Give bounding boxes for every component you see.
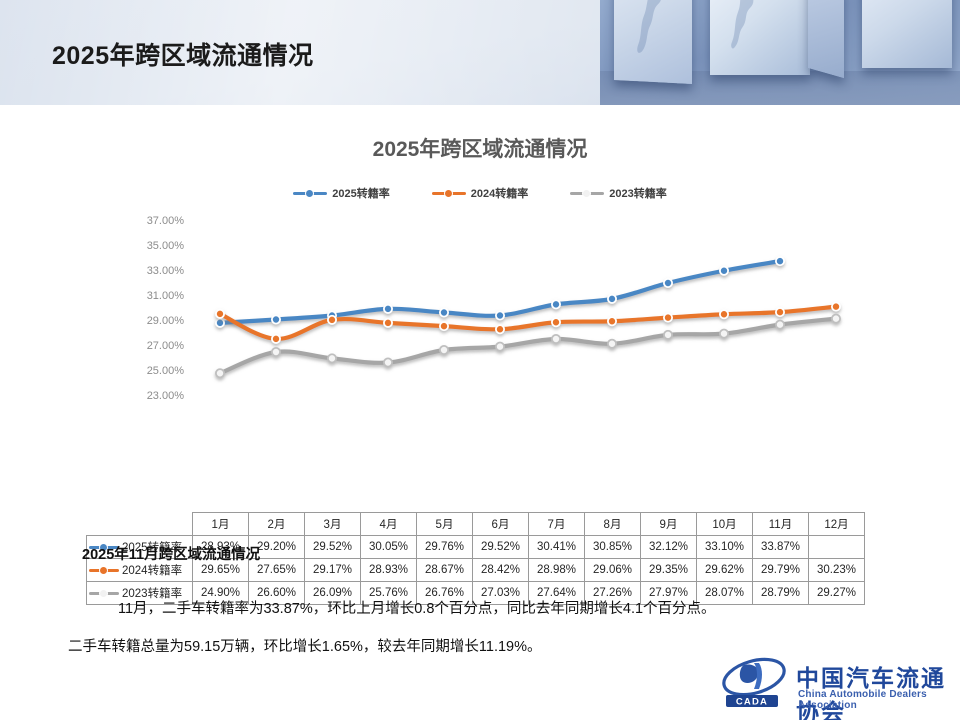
- world-map-icon: [720, 0, 778, 66]
- table-column-header: 1月: [193, 513, 249, 536]
- series-point: [720, 330, 728, 338]
- series-point: [216, 310, 224, 318]
- table-cell: 30.41%: [529, 536, 585, 559]
- series-point: [832, 303, 840, 311]
- table-cell: 30.05%: [361, 536, 417, 559]
- table-column-header: 12月: [809, 513, 865, 536]
- table-cell: 29.17%: [305, 559, 361, 582]
- cada-logo-icon: CADA: [718, 657, 790, 709]
- page-title: 2025年跨区域流通情况: [52, 36, 314, 72]
- series-point: [272, 335, 280, 343]
- notes-paragraph-2: 二手车转籍总量为59.15万辆，环比增长1.65%，较去年同期增长11.19%。: [68, 635, 542, 656]
- table-cell: 29.52%: [473, 536, 529, 559]
- series-point: [608, 340, 616, 348]
- world-map-icon: [624, 0, 682, 62]
- series-point: [216, 369, 224, 377]
- table-series-name: 2024转籍率: [122, 562, 182, 578]
- series-point: [440, 308, 448, 316]
- cube-icon-2: [710, 0, 810, 75]
- table-cell: 29.06%: [585, 559, 641, 582]
- series-point: [272, 348, 280, 356]
- table-column-header: 5月: [417, 513, 473, 536]
- series-point: [776, 257, 784, 265]
- slide-root: 2025年跨区域流通情况 2025年跨区域流通情况 2025转籍率 2024转籍…: [0, 0, 960, 720]
- series-point: [664, 314, 672, 322]
- series-point: [440, 322, 448, 330]
- table-cell: 29.52%: [305, 536, 361, 559]
- header-artwork: [600, 0, 960, 105]
- series-point: [608, 295, 616, 303]
- table-cell: 28.98%: [529, 559, 585, 582]
- table-cell: 29.35%: [641, 559, 697, 582]
- table-header-row: 1月2月3月4月5月6月7月8月9月10月11月12月: [87, 513, 865, 536]
- table-cell: 29.79%: [753, 559, 809, 582]
- logo-english-name: China Automobile Dealers Association: [798, 689, 956, 711]
- series-point: [720, 310, 728, 318]
- series-point: [216, 319, 224, 327]
- table-cell: 28.67%: [417, 559, 473, 582]
- series-point: [384, 305, 392, 313]
- cube-icon-1: [614, 0, 692, 84]
- cube-icon-3: [862, 0, 952, 68]
- table-column-header: 8月: [585, 513, 641, 536]
- table-cell: 33.10%: [697, 536, 753, 559]
- svg-text:CADA: CADA: [736, 697, 768, 708]
- table-cell: 29.76%: [417, 536, 473, 559]
- table-column-header: 7月: [529, 513, 585, 536]
- table-cell: 28.42%: [473, 559, 529, 582]
- organization-logo: CADA 中国汽车流通协会 China Automobile Dealers A…: [718, 655, 956, 713]
- series-point: [328, 354, 336, 362]
- table-column-header: 3月: [305, 513, 361, 536]
- notes-paragraph-1: 11月，二手车转籍率为33.87%，环比上月增长0.8个百分点，同比去年同期增长…: [118, 597, 716, 618]
- table-cell: 33.87%: [753, 536, 809, 559]
- table-column-header: 4月: [361, 513, 417, 536]
- table-cell: [809, 536, 865, 559]
- series-point: [552, 300, 560, 308]
- series-point: [328, 316, 336, 324]
- series-point: [272, 315, 280, 323]
- table-cell: 30.23%: [809, 559, 865, 582]
- series-point: [720, 267, 728, 275]
- plot-area: 37.00% 35.00% 33.00% 31.00% 29.00% 27.00…: [0, 105, 960, 525]
- series-point: [384, 319, 392, 327]
- table-cell: 30.85%: [585, 536, 641, 559]
- chart-svg: [0, 105, 960, 525]
- table-cell: 32.12%: [641, 536, 697, 559]
- series-point: [776, 321, 784, 329]
- series-point: [552, 318, 560, 326]
- series-point: [552, 335, 560, 343]
- table-series-marker: [89, 565, 119, 575]
- table-column-header: 6月: [473, 513, 529, 536]
- series-point: [496, 311, 504, 319]
- table-column-header: 9月: [641, 513, 697, 536]
- table-column-header: 2月: [249, 513, 305, 536]
- table-corner-cell: [87, 513, 193, 536]
- series-point: [496, 343, 504, 351]
- series-point: [664, 331, 672, 339]
- series-point: [664, 279, 672, 287]
- notes-heading: 2025年11月跨区域流通情况: [82, 543, 260, 564]
- table-column-header: 10月: [697, 513, 753, 536]
- table-cell: 29.62%: [697, 559, 753, 582]
- series-point: [776, 308, 784, 316]
- series-point: [384, 358, 392, 366]
- series-point: [496, 325, 504, 333]
- table-cell: 29.27%: [809, 582, 865, 605]
- chart-container: 2025年跨区域流通情况 2025转籍率 2024转籍率: [0, 105, 960, 525]
- series-point: [608, 317, 616, 325]
- table-series-marker: [89, 588, 119, 598]
- table-column-header: 11月: [753, 513, 809, 536]
- cube-side-face: [808, 0, 844, 78]
- series-point: [440, 346, 448, 354]
- slide-header: 2025年跨区域流通情况: [0, 0, 960, 105]
- table-cell: 28.93%: [361, 559, 417, 582]
- series-point: [832, 315, 840, 323]
- table-cell: 28.79%: [753, 582, 809, 605]
